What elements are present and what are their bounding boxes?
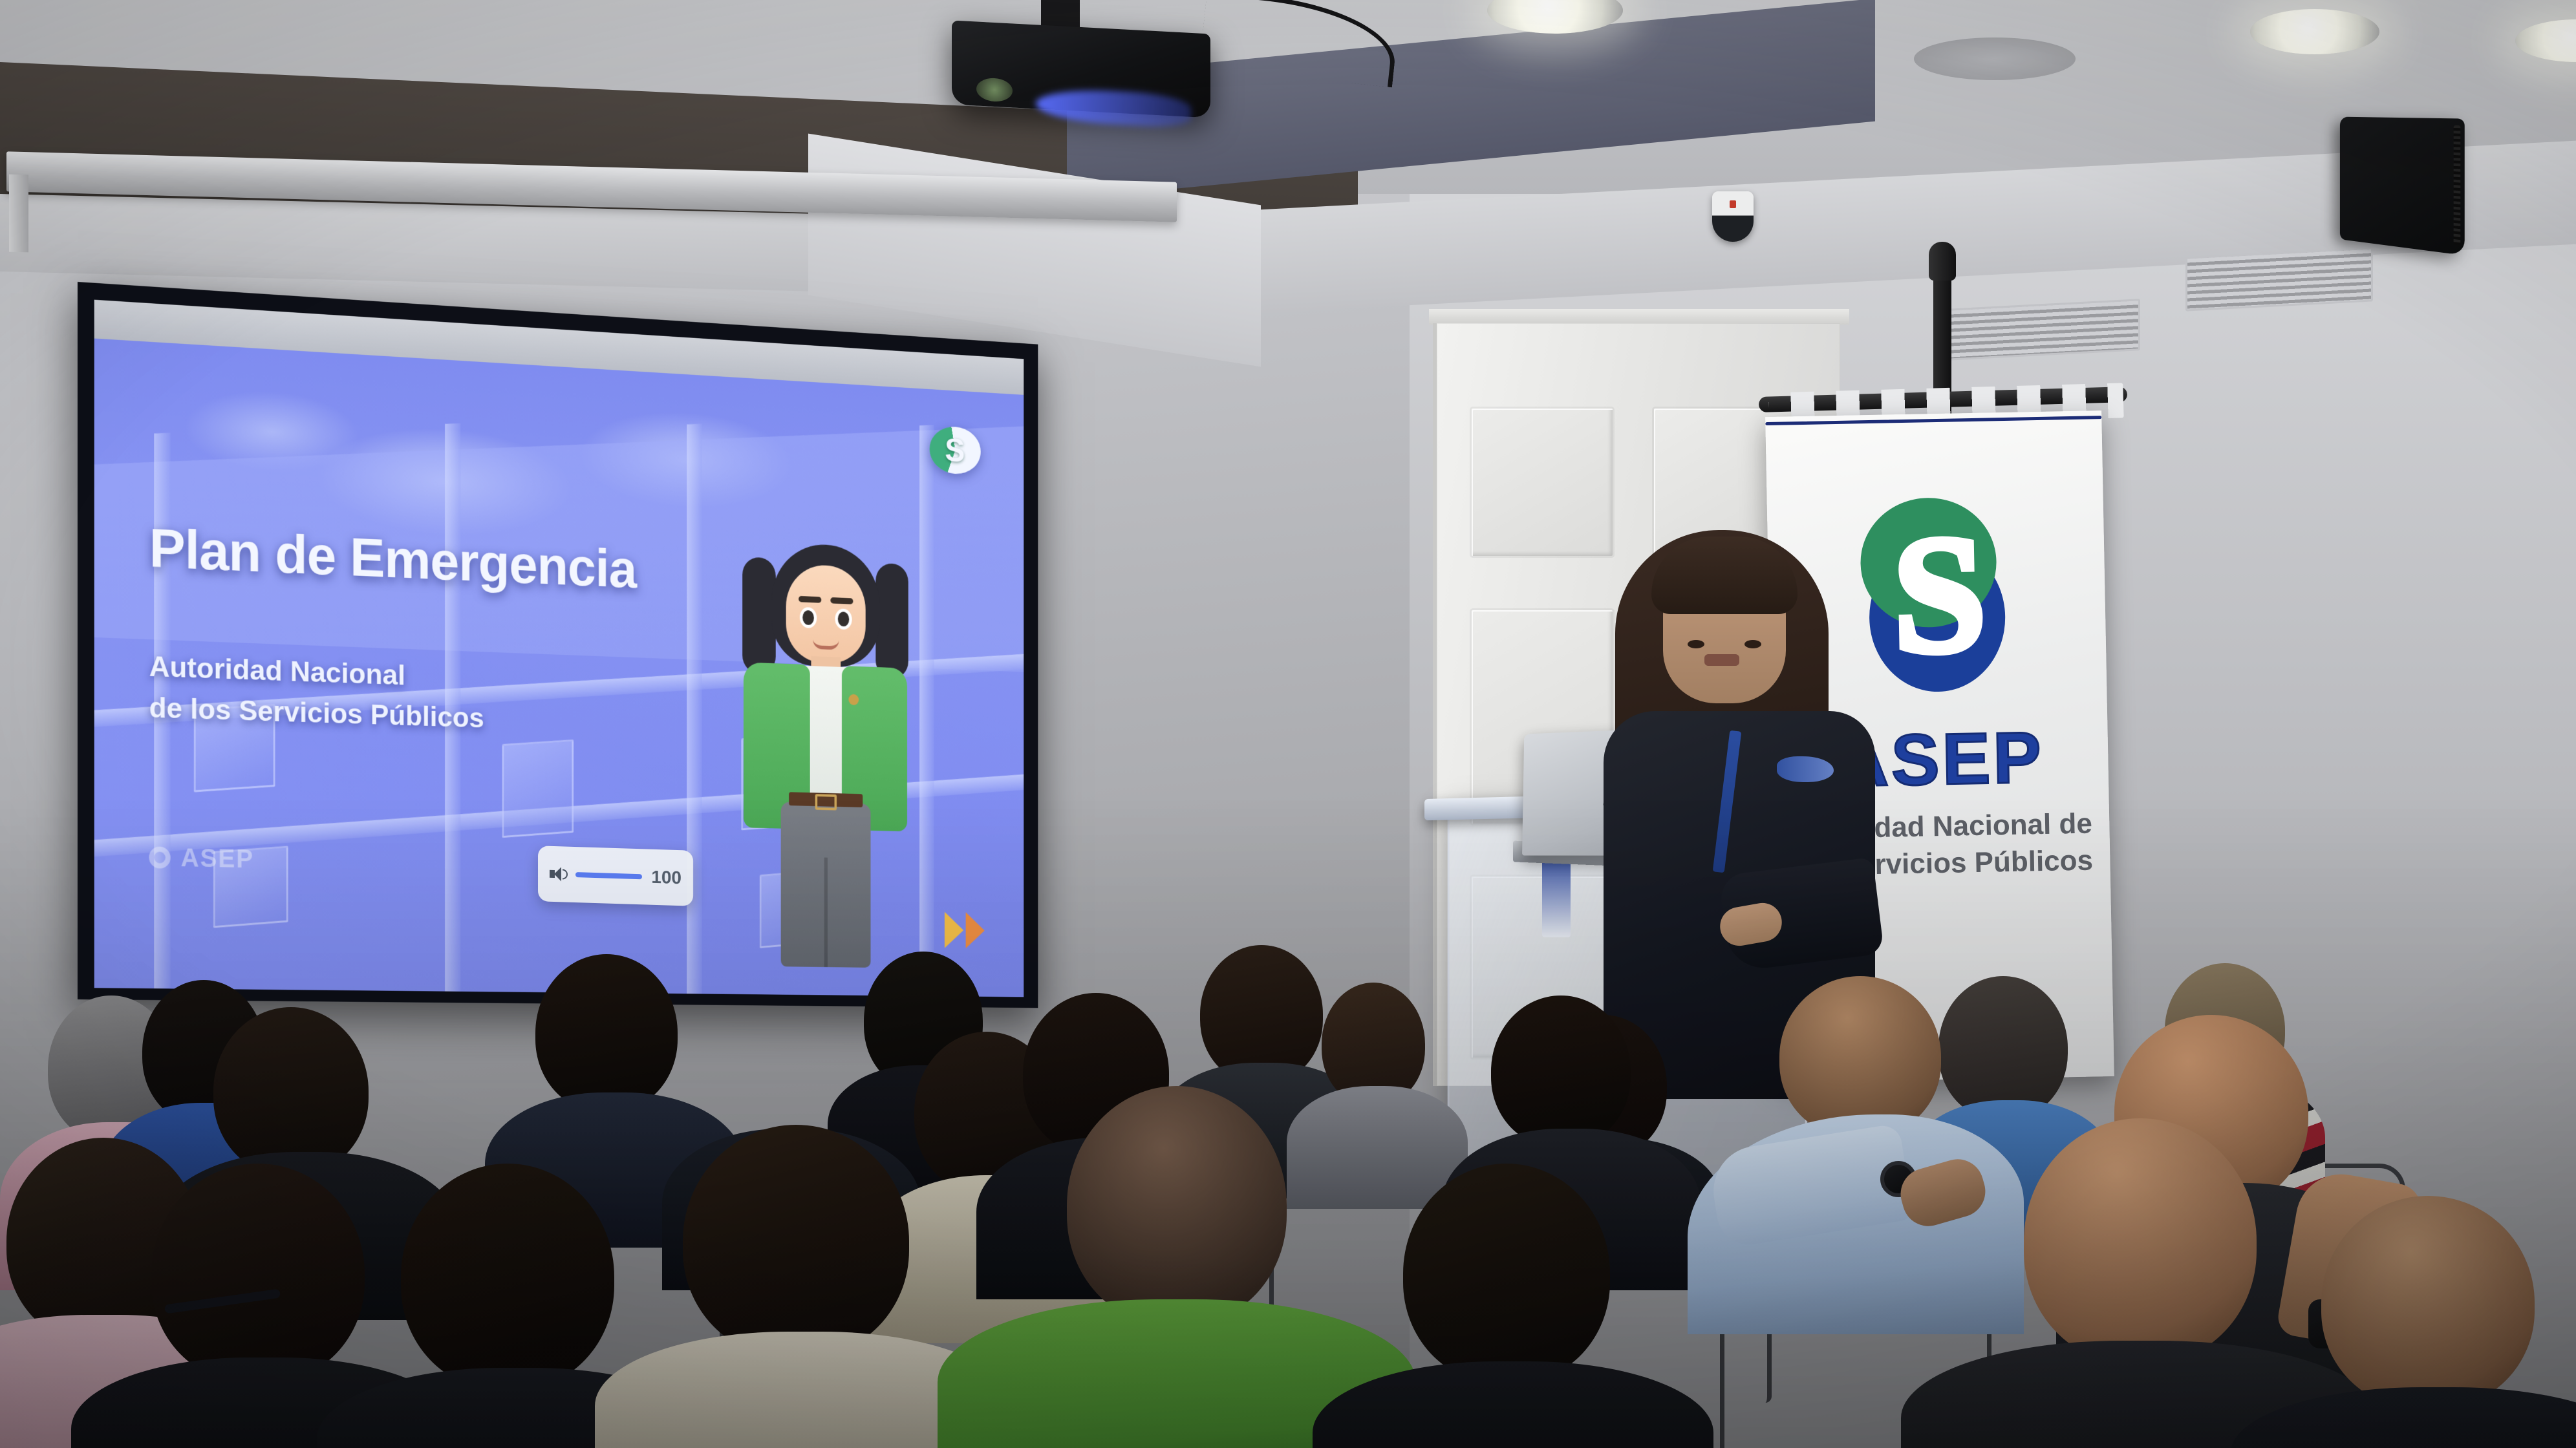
audience-member	[1345, 1164, 1681, 1448]
audience-head	[1779, 976, 1941, 1138]
dome-security-camera-icon	[1712, 191, 1754, 242]
audience-member	[970, 1086, 1371, 1448]
audience-member	[621, 1125, 983, 1448]
asep-logo-icon: S	[1854, 496, 2020, 694]
slide-badge-letter: S	[945, 434, 965, 467]
audience: ROYAL ENFIELD	[0, 802, 2576, 1448]
door-header	[1429, 309, 1849, 325]
ceiling-recess	[1914, 37, 2076, 80]
audience-head	[2321, 1196, 2535, 1409]
audience-head	[2024, 1118, 2257, 1364]
audience-head	[1491, 995, 1631, 1147]
audience-head	[535, 954, 678, 1112]
screen-bracket	[9, 175, 28, 253]
presenter-shirt-logo	[1777, 756, 1834, 782]
ac-vent	[1946, 299, 2140, 361]
audience-shoulders	[1313, 1361, 1713, 1448]
audience-member	[2250, 1196, 2576, 1448]
avatar-lapel-pin-icon	[849, 694, 859, 705]
downlight	[2250, 9, 2379, 54]
audience-shoulders	[2231, 1387, 2576, 1448]
wall-speaker-icon	[2340, 117, 2465, 256]
ceiling-projector-icon	[952, 21, 1210, 118]
asep-logo-letter: S	[1891, 532, 1982, 658]
audience-head	[715, 989, 855, 1147]
slide-subtitle: Autoridad Nacional de los Servicios Públ…	[149, 646, 484, 738]
avatar-face	[786, 564, 866, 665]
audience-head	[151, 1164, 365, 1383]
ac-vent	[2185, 247, 2373, 311]
projector-lens-icon	[976, 78, 1013, 103]
audience-head	[1067, 1086, 1287, 1325]
audience-head	[683, 1125, 909, 1357]
audience-head	[1403, 1164, 1610, 1383]
presenter-mouth	[1704, 654, 1739, 666]
audience-head	[401, 1164, 614, 1390]
presentation-room-photo: Plan de Emergencia Autoridad Nacional de…	[0, 0, 2576, 1448]
